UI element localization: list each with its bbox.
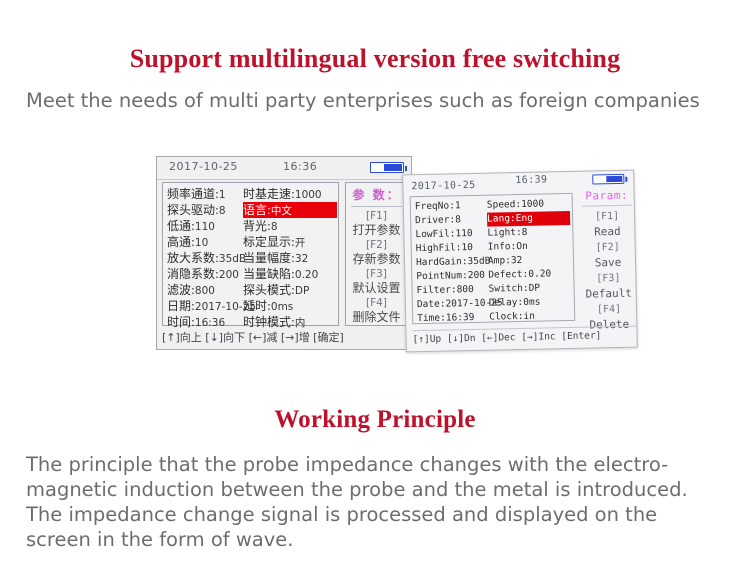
en-param-value: 110	[455, 228, 472, 239]
en-fkey-f4: [F4]	[582, 302, 636, 318]
cn-param-value: 内	[295, 317, 306, 329]
cn-param-label: 高通	[167, 235, 191, 249]
working-principle-line: screen in the form of wave.	[26, 527, 726, 552]
cn-param-row[interactable]: 低通:110	[167, 218, 249, 234]
en-parameter-table: FreqNo:1 Driver:8 LowFil:110 HighFil:10 …	[410, 193, 576, 324]
cn-param-value: 10	[195, 237, 208, 249]
en-param-label: Light	[487, 227, 516, 239]
cn-param-value: 8	[271, 221, 278, 233]
en-fkey-f1: [F1]	[580, 209, 634, 225]
en-param-value: 0.20	[528, 268, 551, 279]
en-param-row[interactable]: Date:2017-10-25	[417, 296, 499, 312]
en-param-label: Filter	[416, 284, 451, 296]
cn-param-value: 0.20	[295, 269, 318, 281]
cn-param-label: 背光	[243, 219, 267, 233]
cn-fkey-f3: [F3]	[346, 267, 407, 281]
cn-param-row[interactable]: 当量幅度:32	[243, 250, 339, 266]
en-param-value: Eng	[516, 213, 533, 224]
cn-param-row[interactable]: 延时:0ms	[243, 298, 339, 314]
cn-param-label: 当量幅度	[243, 251, 291, 265]
divider	[351, 206, 402, 207]
cn-param-label: 消隐系数	[167, 267, 215, 281]
cn-fkey-f4: [F4]	[346, 296, 407, 310]
cn-param-label: 探头驱动	[167, 203, 215, 217]
cn-param-label: 时间	[167, 315, 191, 329]
cn-param-value: 800	[195, 285, 215, 297]
en-param-label: Driver	[415, 214, 450, 226]
cn-fkey-label-f1[interactable]: 打开参数	[346, 223, 407, 238]
cn-param-row[interactable]: 消隐系数:200	[167, 266, 249, 282]
cn-fkey-label-f3[interactable]: 默认设置	[346, 281, 407, 296]
cn-param-value: 32	[295, 253, 308, 265]
en-param-label: FreqNo	[415, 200, 450, 212]
device-screen-chinese: 2017-10-25 16:36 频率通道:1 探头驱动:8 低通:110 高通…	[156, 156, 412, 350]
cn-key-hint-bar: [↑]向上 [↓]向下 [←]减 [→]增 [确定]	[162, 329, 408, 346]
en-param-label: Date	[417, 299, 440, 310]
en-param-row[interactable]: Clock:in	[489, 309, 577, 325]
cn-param-row[interactable]: 放大系数:35dB	[167, 250, 249, 266]
battery-icon	[592, 174, 624, 185]
cn-parameter-table: 频率通道:1 探头驱动:8 低通:110 高通:10 放大系数:35dB 消隐系…	[162, 182, 339, 326]
cn-fkey-f1: [F1]	[346, 209, 407, 223]
en-status-time: 16:39	[515, 174, 547, 186]
en-param-label: Lang	[487, 213, 510, 224]
cn-param-label: 当量缺陷	[243, 267, 291, 281]
cn-status-date: 2017-10-25	[169, 160, 238, 173]
cn-fkey-label-f2[interactable]: 存新参数	[346, 252, 407, 267]
en-fkey-label-default[interactable]: Default	[582, 286, 636, 303]
working-principle-line: magnetic induction between the probe and…	[26, 477, 726, 502]
cn-param-label: 时钟模式	[243, 315, 291, 329]
cn-param-label: 低通	[167, 219, 191, 233]
cn-param-label: 时基走速	[243, 187, 291, 201]
battery-icon	[370, 162, 404, 173]
working-principle-line: The principle that the probe impedance c…	[26, 452, 726, 477]
en-fkey-f3: [F3]	[581, 271, 635, 287]
en-param-label: LowFil	[415, 228, 450, 240]
en-param-column-right: Speed:1000 Lang:Eng Light:8 Info:On Amp:…	[487, 197, 578, 325]
en-param-row[interactable]: Time:16:39	[417, 310, 499, 326]
cn-param-label: 日期	[167, 299, 191, 313]
en-param-value: 8	[522, 227, 528, 238]
cn-param-row[interactable]: 高通:10	[167, 234, 249, 250]
en-side-panel: Param: [F1] Read [F2] Save [F3] Default …	[580, 189, 637, 325]
en-param-value: 32	[511, 255, 523, 266]
working-principle-line: The impedance change signal is processed…	[26, 502, 726, 527]
cn-param-column-right: 时基走速:1000 语言:中文 背光:8 标定显示:开 当量幅度:32 当量缺陷…	[243, 186, 339, 330]
working-principle-body: The principle that the probe impedance c…	[26, 452, 726, 552]
cn-status-bar: 2017-10-25 16:36	[157, 157, 411, 180]
en-status-date: 2017-10-25	[411, 180, 475, 192]
en-param-value: in	[523, 311, 535, 322]
en-param-label: Defect	[488, 269, 523, 281]
cn-fkey-label-f4[interactable]: 删除文件	[346, 310, 407, 325]
en-param-label: Switch	[488, 283, 523, 295]
cn-param-value: 200	[219, 269, 239, 281]
en-param-value: DP	[529, 283, 541, 294]
cn-param-column-left: 频率通道:1 探头驱动:8 低通:110 高通:10 放大系数:35dB 消隐系…	[167, 186, 249, 330]
en-param-label: HighFil	[416, 242, 456, 254]
cn-param-row[interactable]: 时基走速:1000	[243, 186, 339, 202]
cn-param-row[interactable]: 日期:2017-10-25	[167, 298, 249, 314]
divider	[582, 205, 632, 207]
working-principle-heading: Working Principle	[0, 406, 750, 434]
en-param-label: Amp	[488, 255, 505, 266]
cn-param-label: 滤波	[167, 283, 191, 297]
en-param-value: On	[516, 241, 528, 252]
en-param-value: 800	[457, 284, 474, 295]
en-param-value: 0ms	[523, 297, 540, 308]
cn-body: 频率通道:1 探头驱动:8 低通:110 高通:10 放大系数:35dB 消隐系…	[157, 179, 411, 349]
cn-param-row[interactable]: 时钟模式:内	[243, 314, 339, 330]
cn-param-label: 放大系数	[167, 251, 215, 265]
cn-param-value: DP	[295, 285, 309, 297]
cn-param-value: 开	[295, 237, 306, 249]
cn-param-label: 语言	[243, 203, 267, 217]
en-param-label: Time	[417, 313, 440, 324]
device-screen-english: 2017-10-25 16:39 FreqNo:1 Driver:8 LowFi…	[402, 170, 638, 353]
en-param-value: 10	[461, 242, 473, 253]
en-param-label: Speed	[487, 199, 516, 211]
en-fkey-label-read[interactable]: Read	[580, 224, 634, 241]
en-param-value: 1	[455, 200, 461, 211]
cn-param-label: 标定显示	[243, 235, 291, 249]
cn-param-value: 1	[219, 189, 226, 201]
en-param-label: PointNum	[416, 270, 462, 282]
cn-param-row[interactable]: 标定显示:开	[243, 234, 339, 250]
en-param-label: HardGain	[416, 256, 462, 268]
cn-param-row[interactable]: 探头驱动:8	[167, 202, 249, 218]
en-param-value: 16:39	[446, 312, 475, 324]
cn-param-row[interactable]: 滤波:800	[167, 282, 249, 298]
cn-param-value: 中文	[271, 205, 292, 217]
cn-param-value: 1000	[295, 189, 322, 201]
cn-fkey-f2: [F2]	[346, 238, 407, 252]
cn-param-row[interactable]: 探头模式:DP	[243, 282, 339, 298]
en-param-value: 8	[455, 214, 461, 225]
cn-param-label: 探头模式	[243, 283, 291, 297]
en-param-row[interactable]: HardGain:35dB	[416, 254, 498, 270]
cn-param-value: 16:36	[195, 317, 225, 329]
en-param-value: 1000	[521, 198, 544, 209]
cn-param-label: 频率通道	[167, 187, 215, 201]
cn-param-row[interactable]: 当量缺陷:0.20	[243, 266, 339, 282]
en-param-label: Clock	[489, 311, 518, 323]
cn-param-row[interactable]: 背光:8	[243, 218, 339, 234]
cn-param-label: 延时	[243, 299, 267, 313]
en-param-label: Info	[488, 241, 511, 252]
en-side-panel-title: Param:	[580, 189, 634, 203]
en-param-value: 200	[468, 270, 485, 281]
cn-param-row-language-selected[interactable]: 语言:中文	[243, 202, 337, 218]
cn-side-panel-title: 参 数：	[346, 186, 407, 203]
cn-side-panel: 参 数： [F1] 打开参数 [F2] 存新参数 [F3] 默认设置 [F4] …	[345, 182, 408, 326]
en-fkey-f2: [F2]	[581, 240, 635, 256]
product-info-page: Support multilingual version free switch…	[0, 0, 750, 580]
cn-param-row[interactable]: 频率通道:1	[167, 186, 249, 202]
cn-param-value: 8	[219, 205, 226, 217]
en-fkey-label-save[interactable]: Save	[581, 255, 635, 272]
cn-param-row[interactable]: 时间:16:36	[167, 314, 249, 330]
en-param-label: Delay	[489, 297, 518, 309]
cn-param-value: 110	[195, 221, 215, 233]
cn-status-time: 16:36	[283, 160, 317, 173]
cn-param-value: 0ms	[271, 301, 293, 313]
